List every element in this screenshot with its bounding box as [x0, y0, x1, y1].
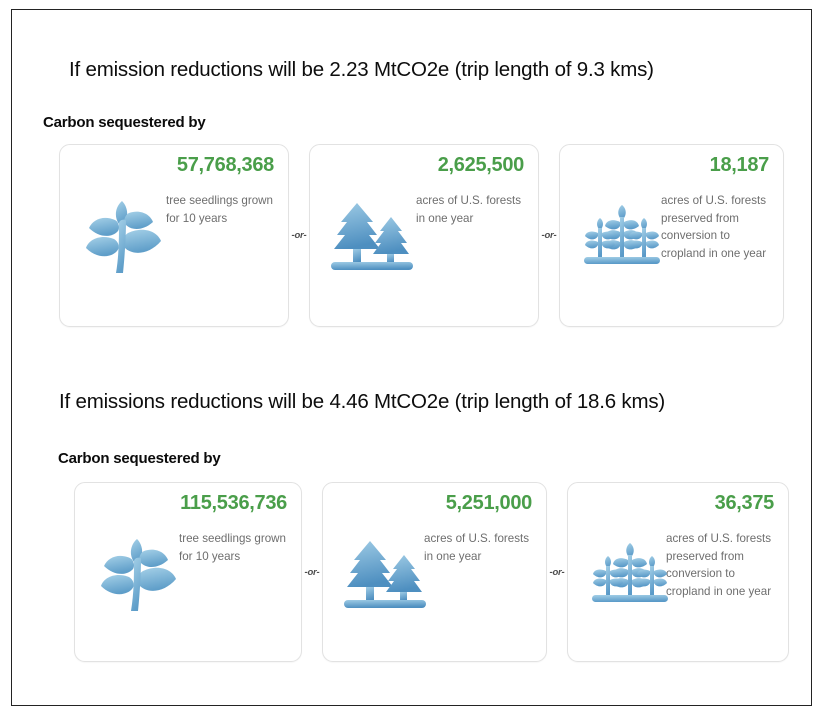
equivalency-card-seedlings[interactable]: 115,536,736 tree seedlings grown for 10 …: [74, 482, 302, 662]
pine-trees-icon: [339, 527, 431, 623]
seedling-icon: [76, 189, 168, 285]
section-2-subtitle: Carbon sequestered by: [58, 450, 221, 467]
card-label: tree seedlings grown for 10 years: [166, 192, 274, 227]
seedling-icon: [91, 527, 183, 623]
or-separator: -or-: [547, 482, 567, 662]
equivalency-card-seedlings[interactable]: 57,768,368 tree seedlings grown for 10 y…: [59, 144, 289, 327]
card-value: 5,251,000: [446, 492, 532, 515]
wheat-stalks-icon: [584, 527, 676, 623]
poster-frame: If emission reductions will be 2.23 MtCO…: [11, 9, 812, 706]
card-label: acres of U.S. forests preserved from con…: [666, 530, 774, 600]
card-value: 2,625,500: [438, 154, 524, 177]
card-value: 18,187: [710, 154, 769, 177]
or-separator: -or-: [302, 482, 322, 662]
card-value: 115,536,736: [180, 492, 287, 515]
or-separator: -or-: [289, 144, 309, 327]
or-separator: -or-: [539, 144, 559, 327]
card-label: acres of U.S. forests in one year: [416, 192, 524, 227]
section-1-subtitle: Carbon sequestered by: [43, 114, 206, 131]
card-value: 57,768,368: [177, 154, 274, 177]
section-2-title: If emissions reductions will be 4.46 MtC…: [59, 390, 665, 414]
section-1-card-row: 57,768,368 tree seedlings grown for 10 y…: [59, 144, 784, 327]
section-2-card-row: 115,536,736 tree seedlings grown for 10 …: [74, 482, 789, 662]
card-label: tree seedlings grown for 10 years: [179, 530, 287, 565]
equivalency-card-cropland[interactable]: 18,187 acres of U.S. forests preserved f…: [559, 144, 784, 327]
equivalency-card-forest-acres[interactable]: 2,625,500 acres of U.S. forests in one y…: [309, 144, 539, 327]
wheat-stalks-icon: [576, 189, 668, 285]
equivalency-card-forest-acres[interactable]: 5,251,000 acres of U.S. forests in one y…: [322, 482, 547, 662]
card-label: acres of U.S. forests preserved from con…: [661, 192, 769, 262]
card-label: acres of U.S. forests in one year: [424, 530, 532, 565]
card-value: 36,375: [715, 492, 774, 515]
section-1-title: If emission reductions will be 2.23 MtCO…: [69, 58, 654, 82]
equivalency-card-cropland[interactable]: 36,375 acres of U.S. forests preserved f…: [567, 482, 789, 662]
pine-trees-icon: [326, 189, 418, 285]
